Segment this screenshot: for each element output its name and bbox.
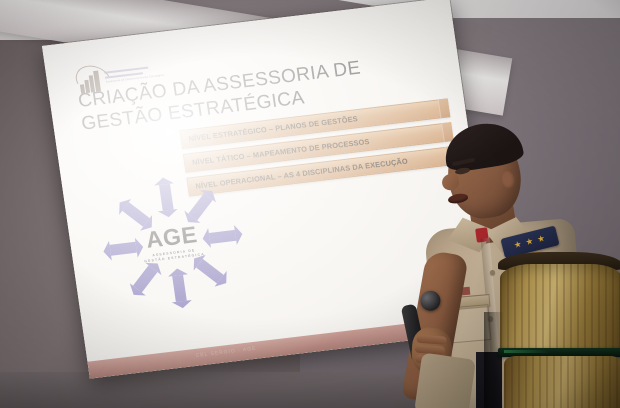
age-logotype: AGE ASSESSORIA DE GESTÃO ESTRATÉGICA xyxy=(140,222,205,263)
rank-star-icon xyxy=(537,234,545,242)
podium-band-highlight xyxy=(504,350,548,353)
diagram-arrow-icon xyxy=(104,241,141,256)
diagram-arrow-icon xyxy=(118,199,154,230)
age-diagram: AGE ASSESSORIA DE GESTÃO ESTRATÉGICA xyxy=(87,160,257,326)
diagram-arrow-icon xyxy=(130,261,160,296)
diagram-arrow-icon xyxy=(158,179,174,216)
diagram-arrow-icon xyxy=(171,270,187,307)
presentation-photo-scene: Assessoria de Desenvolvimento Estrategic… xyxy=(0,0,620,408)
podium-lower-panel xyxy=(504,356,620,408)
podium-cast-shadow xyxy=(484,312,504,408)
podium-upper-panel xyxy=(500,264,620,354)
podium xyxy=(498,252,620,408)
diagram-arrow-icon xyxy=(185,189,215,224)
shirt-button xyxy=(490,270,495,275)
rank-star-icon xyxy=(514,240,522,248)
sleeve xyxy=(414,353,476,408)
slide-footer-note: CEL SERGIO - AGE xyxy=(195,346,257,359)
diagram-arrow-icon xyxy=(192,256,228,287)
rank-star-icon xyxy=(525,237,533,245)
diagram-arrow-icon xyxy=(203,229,240,244)
microphone-head-icon xyxy=(419,289,443,313)
